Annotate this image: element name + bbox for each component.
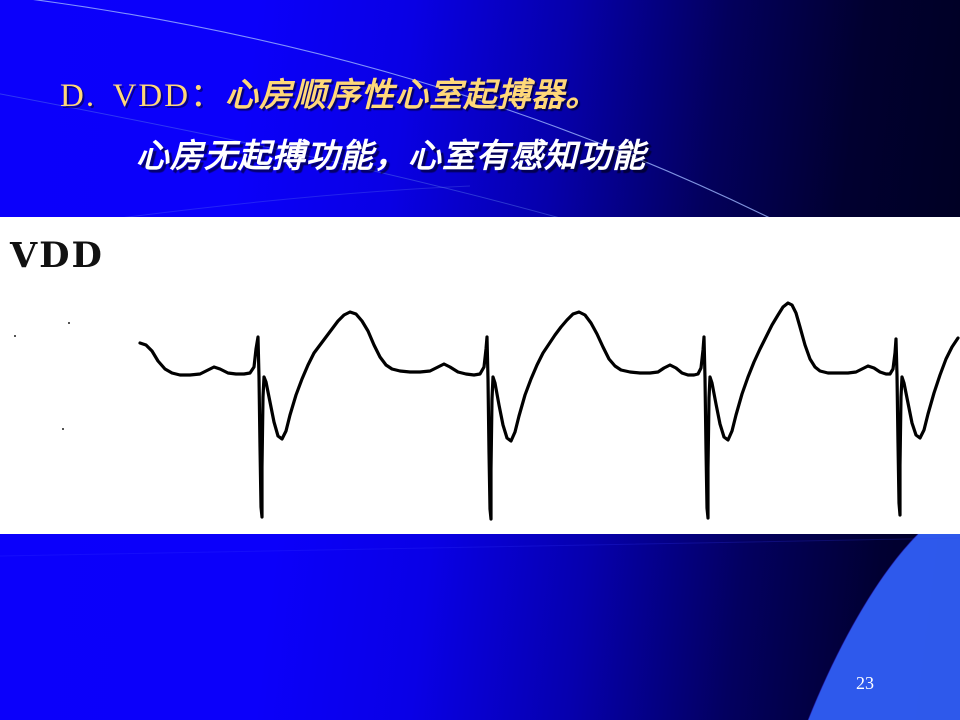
footer-background [0, 534, 960, 720]
ecg-image-panel: VDD [0, 217, 960, 534]
title-line-1-cjk: 心房顺序性心室起搏器。 [225, 75, 599, 114]
ecg-trace-line [140, 303, 958, 519]
slide-canvas: D. VDD：心房顺序性心室起搏器。 心房无起搏功能，心室有感知功能 VDD 2… [0, 0, 960, 720]
title-item-marker: D. [60, 78, 96, 114]
title-line-2-cjk: 心房无起搏功能，心室有感知功能 [136, 136, 646, 175]
page-number: 23 [856, 673, 874, 694]
title-line-2: 心房无起搏功能，心室有感知功能 [136, 139, 646, 172]
title-mode-label: VDD： [113, 78, 226, 114]
ecg-waveform [0, 217, 960, 534]
title-line-1: D. VDD：心房顺序性心室起搏器。 [60, 78, 599, 113]
header-text-block: D. VDD：心房顺序性心室起搏器。 心房无起搏功能，心室有感知功能 [0, 0, 960, 218]
